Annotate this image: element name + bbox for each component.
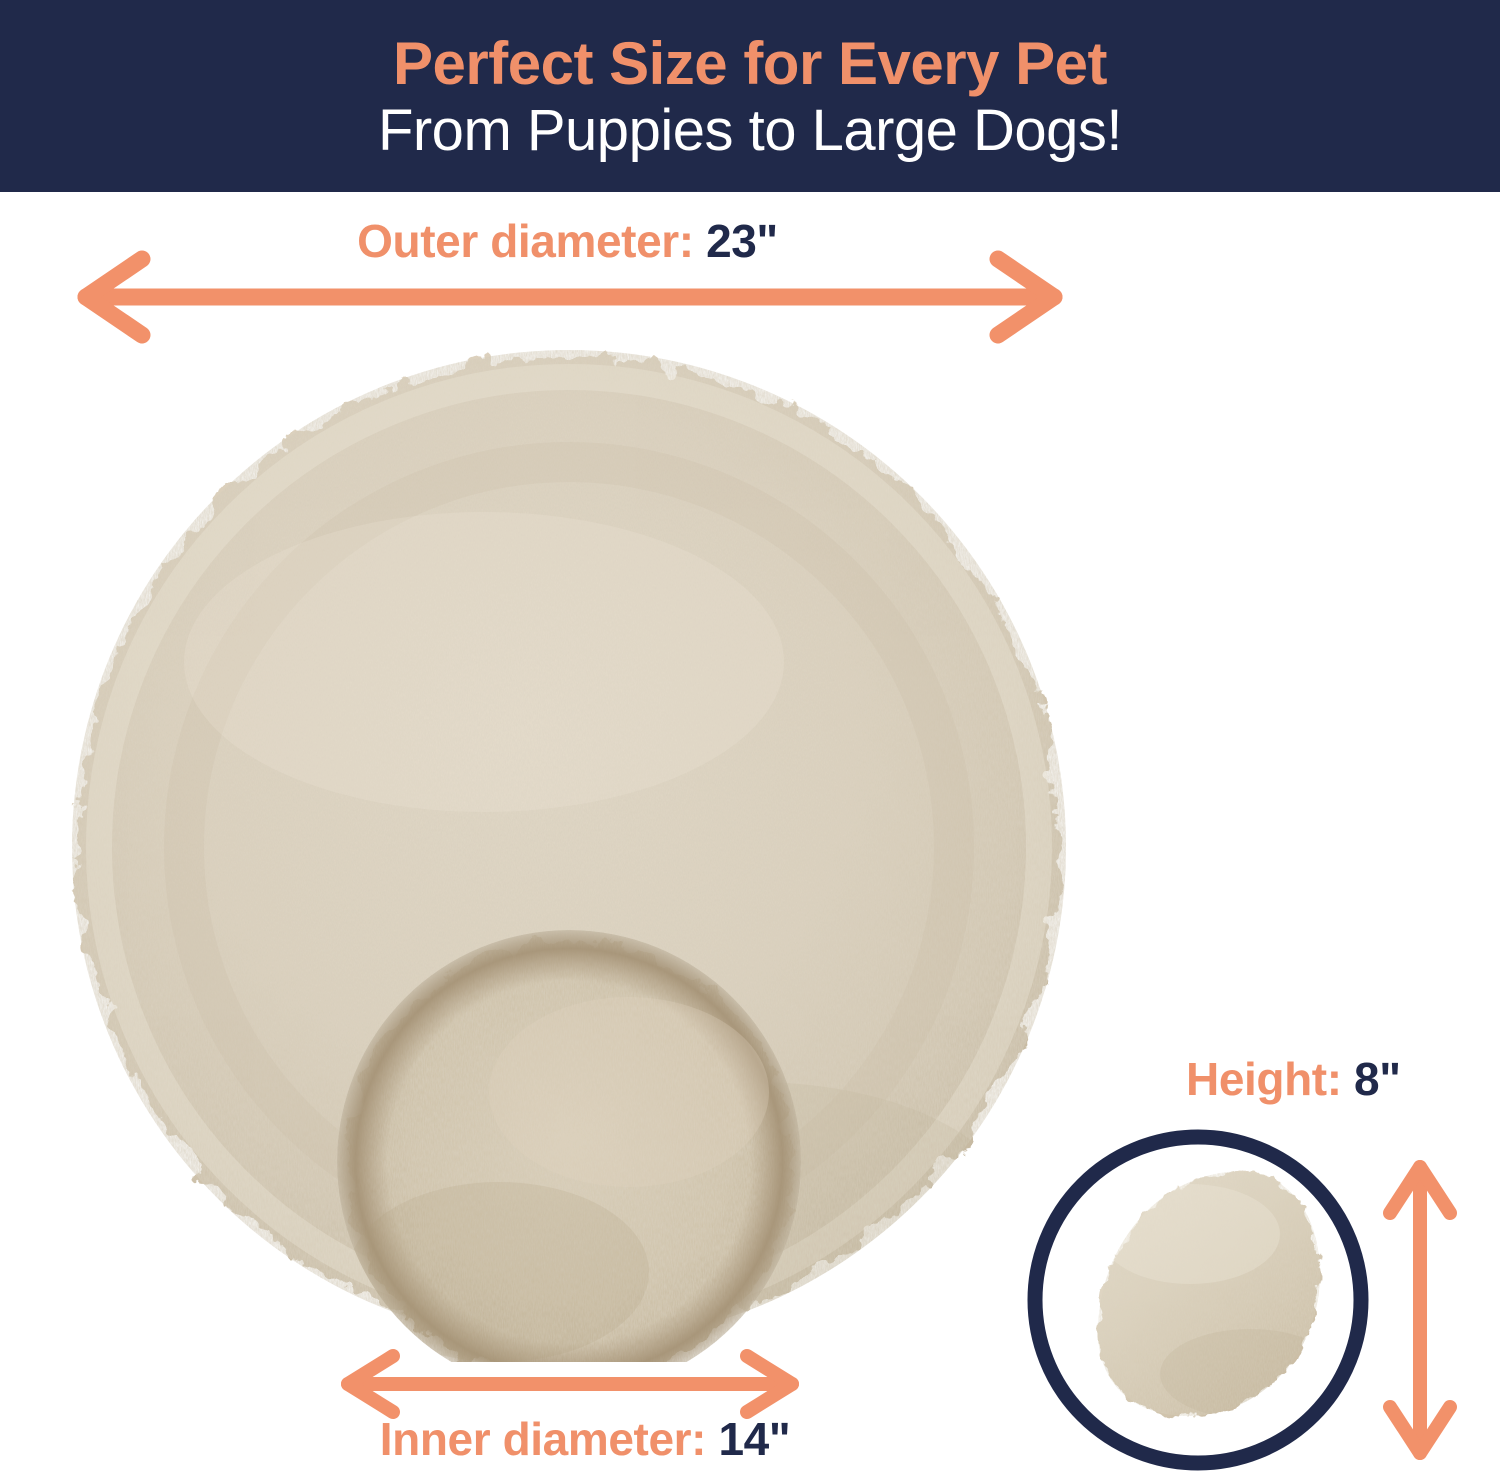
inner-diameter-value: 14" <box>718 1413 790 1465</box>
outer-diameter-label: Outer diameter: 23" <box>0 214 1135 268</box>
pet-bed-top-view <box>64 332 1074 1362</box>
infographic-page: Perfect Size for Every Pet From Puppies … <box>0 0 1500 1475</box>
outer-diameter-arrow-icon <box>70 262 1070 332</box>
header-banner: Perfect Size for Every Pet From Puppies … <box>0 0 1500 192</box>
pet-bed-side-view-inset <box>1020 1124 1380 1475</box>
height-label: Height: 8" <box>1186 1052 1466 1106</box>
height-arrow-icon <box>1386 1155 1454 1465</box>
outer-diameter-label-text: Outer diameter: <box>357 215 694 267</box>
inner-diameter-arrow-icon <box>335 1358 805 1410</box>
banner-subheadline: From Puppies to Large Dogs! <box>378 99 1122 164</box>
pet-bed-side-view-graphic <box>1020 1124 1380 1475</box>
height-value: 8" <box>1354 1053 1401 1105</box>
outer-diameter-value: 23" <box>706 215 778 267</box>
inner-diameter-label-text: Inner diameter: <box>380 1413 706 1465</box>
height-label-text: Height: <box>1186 1053 1342 1105</box>
pet-bed-top-view-graphic <box>64 332 1074 1362</box>
banner-headline: Perfect Size for Every Pet <box>393 32 1107 97</box>
inner-diameter-label: Inner diameter: 14" <box>330 1412 840 1466</box>
